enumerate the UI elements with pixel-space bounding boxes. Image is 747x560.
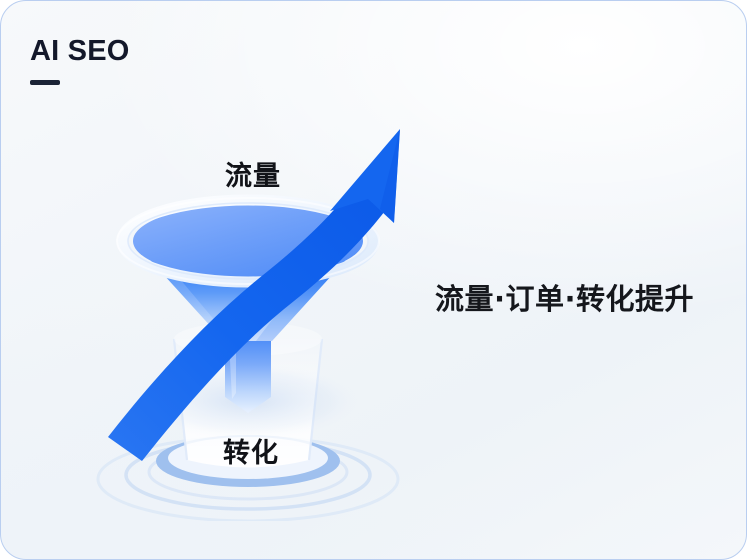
heading-block: AI SEO [30,37,330,85]
funnel-label-traffic: 流量 [225,154,281,193]
page-title: AI SEO [30,37,330,66]
funnel-label-conversion: 转化 [223,431,279,470]
poster-card: AI SEO 流量·订单·转化提升 [0,0,747,560]
tagline-text: 流量·订单·转化提升 [435,276,694,318]
title-underline-rule [30,80,60,85]
